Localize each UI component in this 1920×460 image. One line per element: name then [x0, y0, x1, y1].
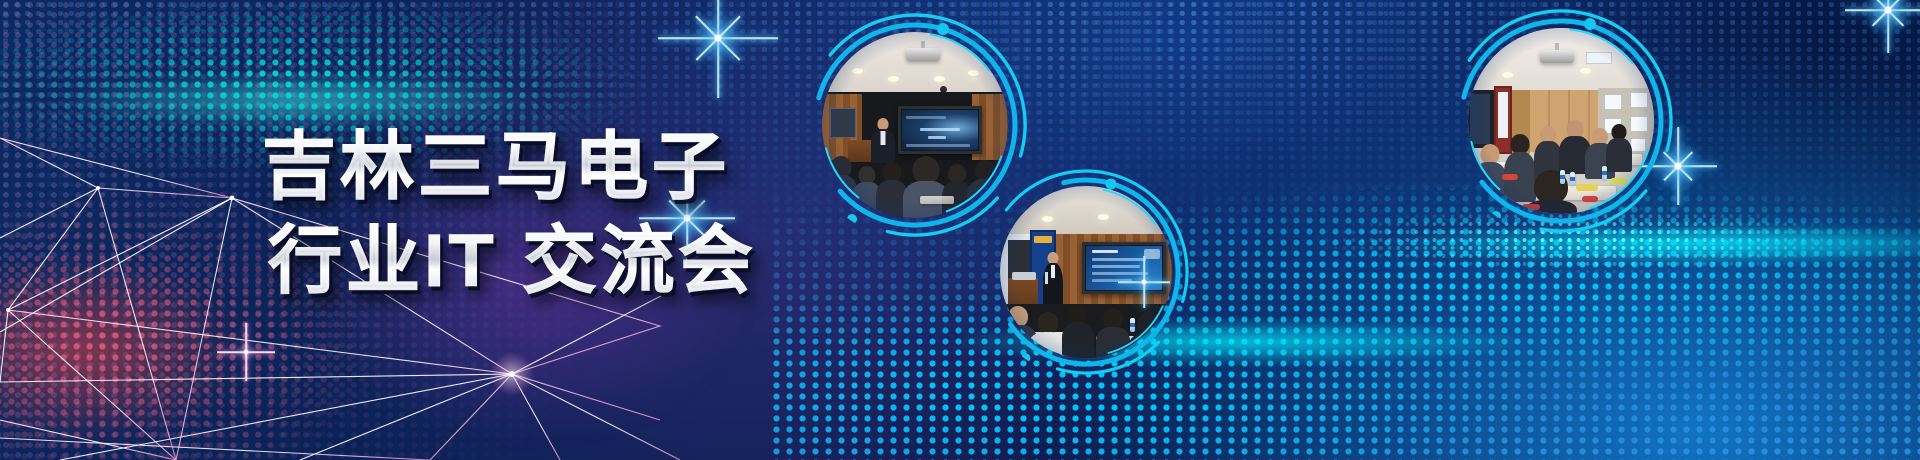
photo-conference-presentation-image [822, 32, 1008, 218]
photo-conference-presentation [822, 32, 1008, 218]
banner-title: 吉林三马电子 行业IT 交流会 [262, 124, 802, 304]
event-banner: 吉林三马电子 行业IT 交流会 [0, 0, 1920, 460]
title-line-2: 行业IT 交流会 [262, 218, 802, 304]
photo-training-classroom [1468, 28, 1654, 214]
photo-speaker-microphone [1000, 186, 1172, 358]
title-line-1: 吉林三马电子 [262, 124, 802, 210]
photo-training-classroom-image [1468, 28, 1654, 214]
photo-speaker-microphone-image [1000, 186, 1172, 358]
